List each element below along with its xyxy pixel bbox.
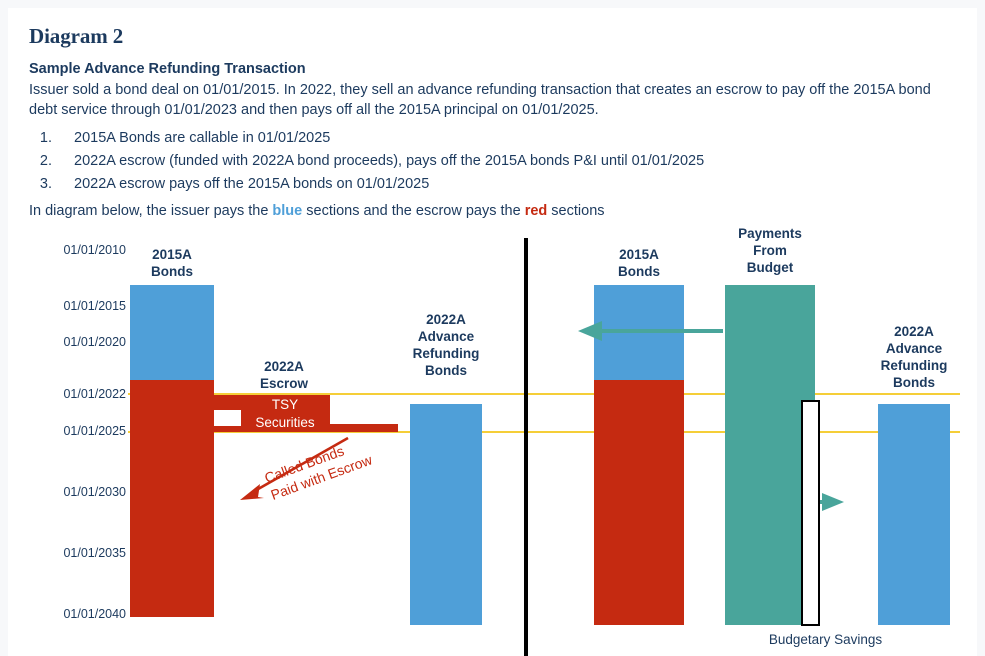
payments-line-2: From <box>753 243 787 258</box>
right-2015a-line-2: Bonds <box>618 264 660 279</box>
caption-budgetary-savings: Budgetary Savings <box>738 632 913 647</box>
diagram-chart: 01/01/2010 01/01/2015 01/01/2020 01/01/2… <box>8 8 977 656</box>
savings-arrow-head-icon <box>822 493 844 511</box>
series-label-2022a-escrow: 2022A Escrow <box>230 358 338 392</box>
bar-2015a-bonds-blue-left <box>130 285 214 380</box>
bar-tsy-connector-bottom <box>214 426 240 432</box>
y-tick-2015: 01/01/2015 <box>30 299 126 313</box>
y-tick-2040: 01/01/2040 <box>30 607 126 621</box>
y-tick-2035: 01/01/2035 <box>30 546 126 560</box>
bar-tsy-connector-top <box>214 395 240 410</box>
right-2015a-line-1: 2015A <box>619 247 659 262</box>
diagram-page: Diagram 2 Sample Advance Refunding Trans… <box>8 8 977 656</box>
annotation-called-bonds: Called Bonds Paid with Escrow <box>262 434 374 504</box>
y-tick-2030: 01/01/2030 <box>30 485 126 499</box>
payments-line-3: Budget <box>747 260 794 275</box>
bar-2015a-bonds-red-right <box>594 380 684 625</box>
y-tick-2010: 01/01/2010 <box>30 243 126 257</box>
escrow-to-bonds-arrow-icon <box>214 410 240 426</box>
adv-left-line-2: Advance <box>418 329 474 344</box>
series-label-2015a-right: 2015A Bonds <box>594 246 684 280</box>
adv-right-line-1: 2022A <box>894 324 934 339</box>
escrow-label-line-1: 2022A <box>264 359 304 374</box>
adv-left-line-4: Bonds <box>425 363 467 378</box>
bar-2015a-bonds-red-left <box>130 380 214 617</box>
series-label-2022a-advance-right: 2022A Advance Refunding Bonds <box>862 323 966 391</box>
series-label-2015a-left: 2015A Bonds <box>130 246 214 280</box>
bar-budgetary-savings <box>801 400 820 626</box>
series-label-payments-from-budget: Payments From Budget <box>725 225 815 276</box>
adv-right-line-2: Advance <box>886 341 942 356</box>
panel-divider <box>524 238 528 656</box>
y-tick-2020: 01/01/2020 <box>30 335 126 349</box>
y-tick-2022: 01/01/2022 <box>30 387 126 401</box>
bar-2022a-advance-refunding-left <box>410 404 482 625</box>
bar-2022a-advance-refunding-right <box>878 404 950 625</box>
adv-left-line-1: 2022A <box>426 312 466 327</box>
y-tick-2025: 01/01/2025 <box>30 424 126 438</box>
series-label-line-1: 2015A <box>152 247 192 262</box>
payments-line-1: Payments <box>738 226 802 241</box>
bar-2015a-bonds-blue-right <box>594 285 684 380</box>
adv-right-line-4: Bonds <box>893 375 935 390</box>
bar-tsy-securities-tail <box>330 424 398 432</box>
escrow-label-line-2: Escrow <box>260 376 308 391</box>
adv-left-line-3: Refunding <box>413 346 480 361</box>
bar-tsy-securities-main <box>240 395 330 432</box>
adv-right-line-3: Refunding <box>881 358 948 373</box>
series-label-line-2: Bonds <box>151 264 193 279</box>
called-bonds-arrow-head-icon <box>240 484 264 500</box>
series-label-2022a-advance-left: 2022A Advance Refunding Bonds <box>394 311 498 379</box>
